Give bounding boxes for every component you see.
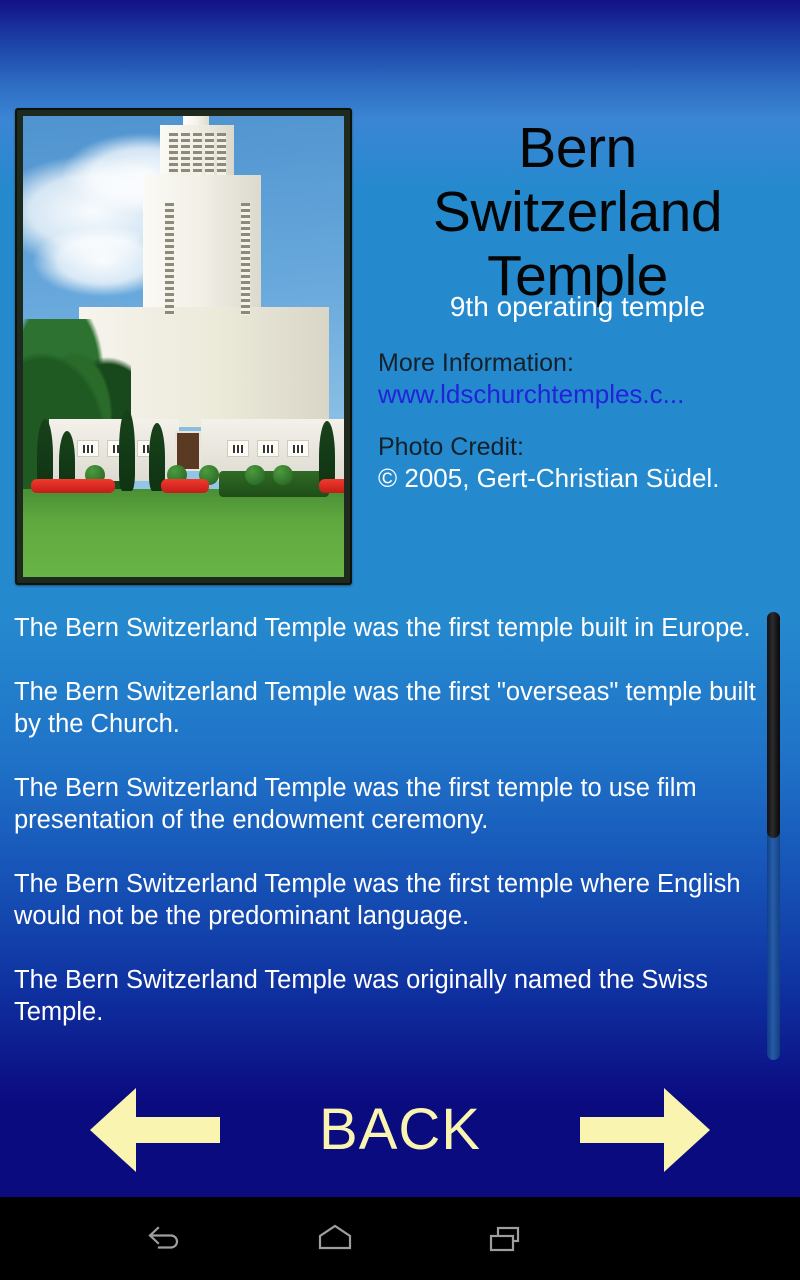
more-information-label: More Information: <box>378 348 785 378</box>
photo-lawn <box>23 489 344 577</box>
photo-cypress <box>119 409 135 491</box>
screen: Bern Switzerland Temple 9th operating te… <box>0 0 800 1280</box>
scrollbar-thumb[interactable] <box>767 612 780 838</box>
photo-relief-panel <box>77 440 99 457</box>
photo-relief-panel <box>257 440 279 457</box>
fact-item: The Bern Switzerland Temple was the firs… <box>14 676 756 740</box>
photo-window <box>165 203 174 315</box>
page-subtitle: 9th operating temple <box>370 290 785 324</box>
android-back-icon <box>145 1222 185 1256</box>
facts-scroll-region[interactable]: The Bern Switzerland Temple was the firs… <box>0 600 800 1060</box>
back-button-label: BACK <box>319 1101 481 1159</box>
back-button[interactable]: BACK <box>275 1063 525 1197</box>
bottom-navigation-bar: BACK <box>0 1063 800 1197</box>
photo-bush <box>245 465 265 485</box>
photo-flowerbed <box>319 479 344 493</box>
previous-button[interactable] <box>35 1063 275 1197</box>
app-content: Bern Switzerland Temple 9th operating te… <box>0 0 800 1197</box>
photo-credit-group: Photo Credit: © 2005, Gert-Christian Süd… <box>370 432 785 494</box>
fact-item: The Bern Switzerland Temple was the firs… <box>14 868 756 932</box>
photo-flowerbed <box>31 479 115 493</box>
more-information-link[interactable]: www.ldschurchtemples.c... <box>378 378 785 410</box>
more-information-group: More Information: www.ldschurchtemples.c… <box>370 348 785 410</box>
temple-photo <box>23 116 344 577</box>
title-block: Bern Switzerland Temple 9th operating te… <box>370 116 785 494</box>
photo-credit-value: © 2005, Gert-Christian Südel. <box>378 462 785 494</box>
android-home-button[interactable] <box>250 1197 420 1280</box>
photo-relief-panel <box>227 440 249 457</box>
fact-item: The Bern Switzerland Temple was original… <box>14 964 756 1028</box>
fact-item: The Bern Switzerland Temple was the firs… <box>14 772 756 836</box>
photo-credit-label: Photo Credit: <box>378 432 785 462</box>
temple-photo-frame[interactable] <box>15 108 352 585</box>
fact-item: The Bern Switzerland Temple was the firs… <box>14 612 756 644</box>
page-title: Bern Switzerland Temple <box>370 116 785 308</box>
android-back-button[interactable] <box>80 1197 250 1280</box>
photo-bush <box>273 465 293 485</box>
info-spacer <box>370 410 785 432</box>
next-button[interactable] <box>525 1063 765 1197</box>
photo-flowerbed <box>161 479 209 493</box>
android-system-bar <box>0 1197 800 1280</box>
header-section: Bern Switzerland Temple 9th operating te… <box>0 0 800 595</box>
right-arrow-icon <box>580 1088 710 1172</box>
android-home-icon <box>313 1222 357 1256</box>
photo-relief-panel <box>287 440 309 457</box>
facts-list: The Bern Switzerland Temple was the firs… <box>14 612 756 1060</box>
android-recents-icon <box>483 1222 527 1256</box>
left-arrow-icon <box>90 1088 220 1172</box>
photo-window <box>241 203 250 315</box>
android-recents-button[interactable] <box>420 1197 590 1280</box>
